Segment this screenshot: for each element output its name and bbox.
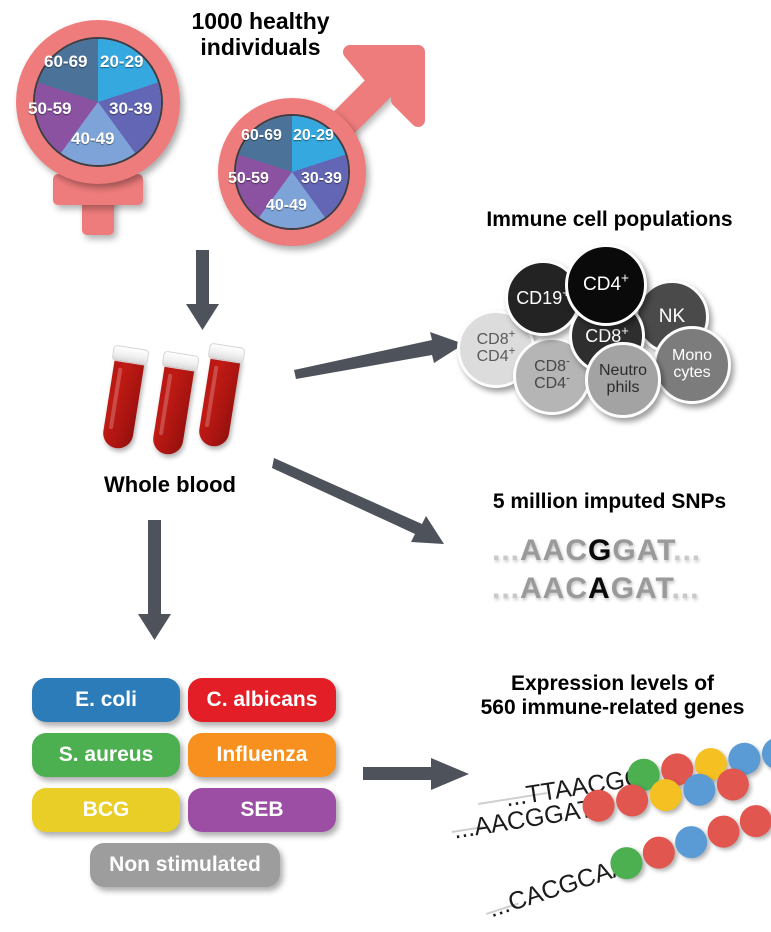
snp-right: GAT [611, 572, 672, 605]
immune-cell-cluster: CD4+ CD19+ NK CD8+ CD8+CD4+ CD8-CD4- Neu… [455, 242, 755, 417]
cell-cd4-positive: CD4+ [565, 244, 647, 326]
arrow-cohort-to-blood [183, 250, 223, 332]
age-label-40-49: 40-49 [266, 197, 307, 215]
snp-sequence-2: ...AACAGAT... [492, 572, 699, 606]
female-symbol: 20-29 30-39 40-49 50-59 60-69 [8, 12, 188, 242]
bead [647, 777, 684, 814]
age-label-30-39: 30-39 [109, 99, 152, 119]
tube-body [151, 361, 195, 457]
cell-label: CD8-CD4- [534, 359, 570, 392]
snps-title-text: 5 million imputed SNPs [493, 490, 726, 513]
snp-left: AAC [520, 534, 588, 567]
bead [715, 766, 752, 803]
age-label-20-29: 20-29 [100, 52, 143, 72]
age-label-50-59: 50-59 [28, 99, 71, 119]
stimulus-influenza[interactable]: Influenza [188, 733, 336, 777]
snp-suffix: ... [671, 572, 699, 605]
expression-title-line1: Expression levels of [460, 672, 765, 696]
expression-title-line2: 560 immune-related genes [460, 696, 765, 720]
snp-right: GAT [612, 534, 673, 567]
cell-label: Monocytes [672, 348, 712, 381]
age-label-60-69: 60-69 [241, 127, 282, 145]
expression-strands: ...TTAACGG ...AACGGAT ...CACGCAA [450, 735, 771, 915]
immune-title-text: Immune cell populations [486, 208, 732, 231]
snp-prefix: ... [492, 534, 520, 567]
male-symbol: 20-29 30-39 40-49 50-59 60-69 [210, 30, 435, 245]
cell-label: NK [659, 307, 685, 327]
snps-title: 5 million imputed SNPs [452, 490, 767, 514]
age-label-20-29: 20-29 [293, 127, 334, 145]
stimulus-non-stimulated[interactable]: Non stimulated [90, 843, 280, 887]
bead [614, 782, 651, 819]
stimulus-bcg[interactable]: BCG [32, 788, 180, 832]
snp-variant: G [588, 534, 612, 567]
cell-label: CD8+CD4+ [477, 332, 516, 365]
stimulus-c-albicans[interactable]: C. albicans [188, 678, 336, 722]
cell-label: CD4+ [583, 275, 629, 295]
snp-sequence-1: ...AACGGAT... [492, 534, 701, 568]
stimuli-panel: E. coli C. albicans S. aureus Influenza … [30, 678, 340, 893]
bead [760, 735, 771, 772]
tube-body [101, 355, 145, 451]
bead [639, 832, 679, 872]
cell-neutrophils: Neutrophils [585, 342, 661, 418]
immune-title: Immune cell populations [452, 208, 767, 232]
figure-canvas: 1000 healthy individuals 20-29 30-39 40-… [0, 0, 771, 922]
bead [703, 811, 743, 851]
tube-body [197, 353, 241, 449]
cell-label: Neutrophils [599, 363, 647, 396]
snp-prefix: ... [492, 572, 520, 605]
expression-title: Expression levels of 560 immune-related … [460, 672, 765, 720]
whole-blood-label-text: Whole blood [104, 472, 236, 497]
snp-left: AAC [520, 572, 588, 605]
stimulus-e-coli[interactable]: E. coli [32, 678, 180, 722]
arrow-blood-to-stimuli [135, 520, 175, 642]
snp-suffix: ... [673, 534, 701, 567]
bead [671, 822, 711, 862]
strand-sequence: ...AACGGAT [451, 795, 595, 846]
cell-monocytes: Monocytes [653, 326, 731, 404]
age-label-30-39: 30-39 [301, 170, 342, 188]
snp-variant: A [588, 572, 611, 605]
bead [681, 771, 718, 808]
stimulus-seb[interactable]: SEB [188, 788, 336, 832]
age-label-40-49: 40-49 [71, 129, 114, 149]
arrow-blood-to-immune [292, 322, 467, 382]
stimulus-s-aureus[interactable]: S. aureus [32, 733, 180, 777]
arrow-blood-to-snps [272, 452, 467, 547]
age-label-60-69: 60-69 [44, 52, 87, 72]
cell-label: CD19+ [516, 289, 570, 308]
whole-blood-label: Whole blood [75, 472, 265, 497]
age-label-50-59: 50-59 [228, 170, 269, 188]
